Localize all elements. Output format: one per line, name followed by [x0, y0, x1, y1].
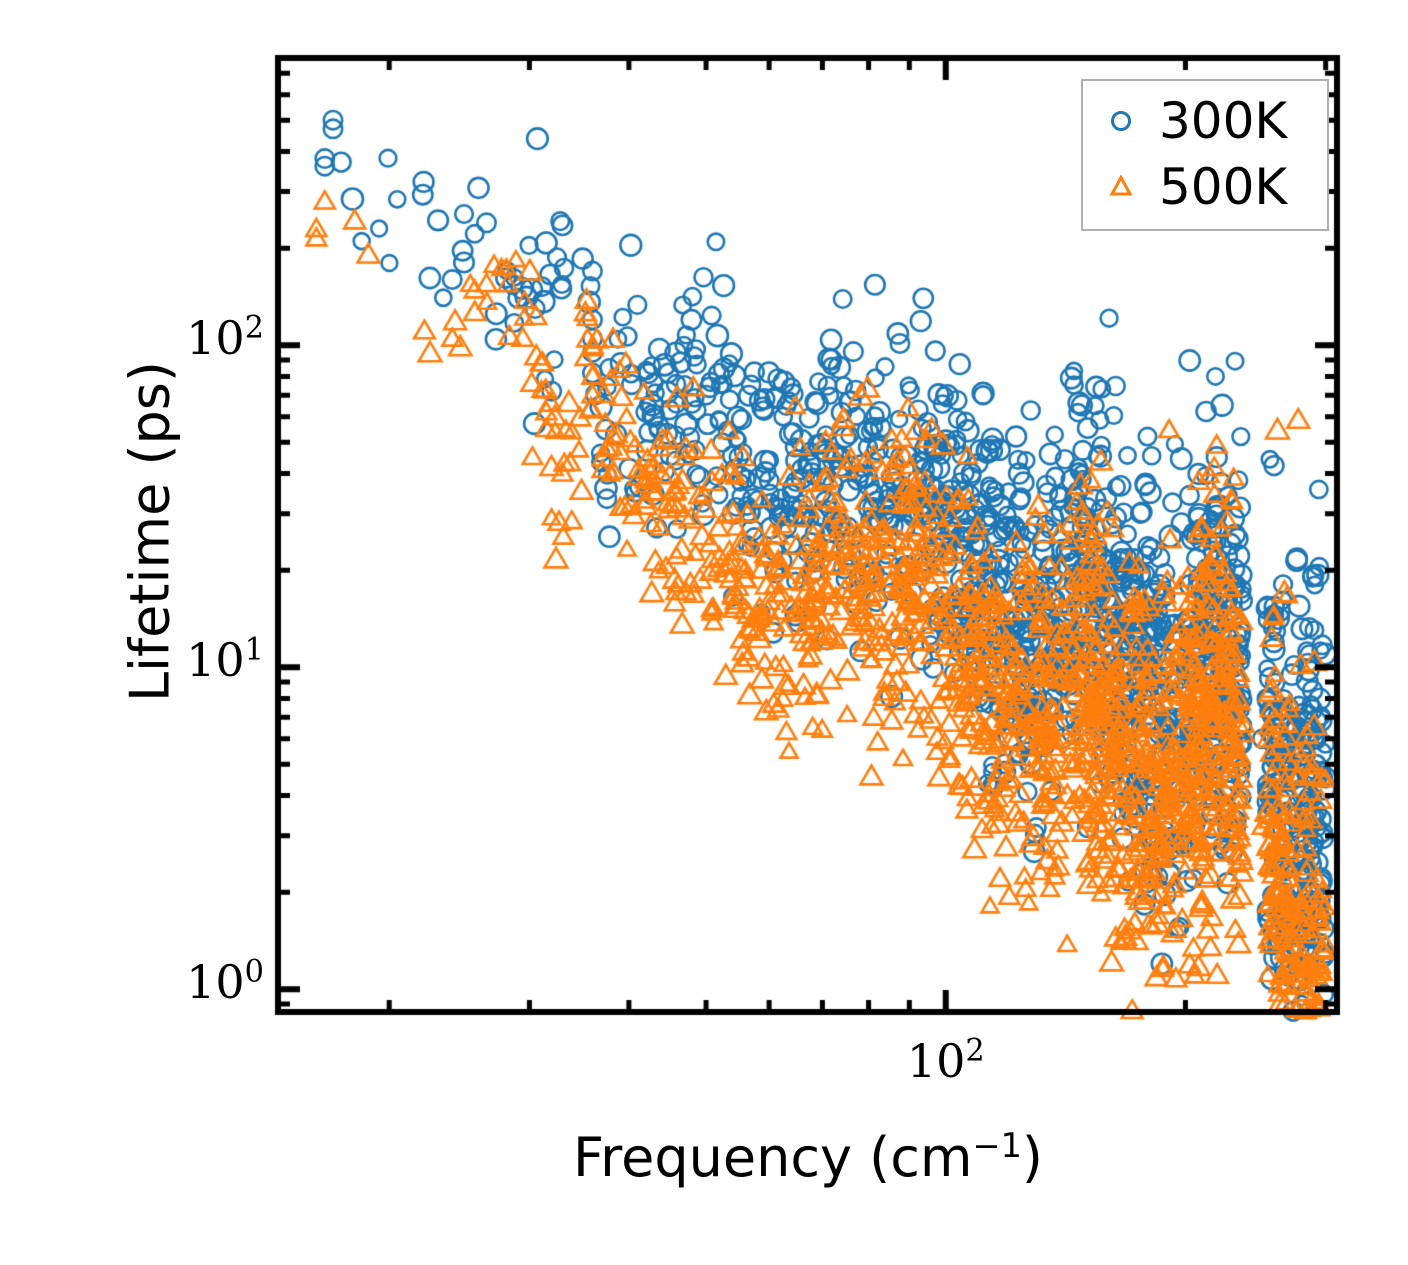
legend-circle-icon	[1083, 104, 1159, 138]
legend-entry-300k[interactable]: 300K	[1083, 89, 1327, 153]
y-axis-title: Lifetime (ps)	[119, 52, 182, 1012]
scatter-plot-figure: 102 101 100 102 Frequency (cm−1) Lifetim…	[0, 0, 1408, 1265]
legend-label-300k: 300K	[1159, 96, 1287, 146]
legend-entry-500k[interactable]: 500K	[1083, 155, 1327, 219]
x-tick-label-100: 102	[826, 1034, 1066, 1088]
legend-triangle-icon	[1083, 170, 1159, 204]
x-axis-title: Frequency (cm−1)	[278, 1126, 1338, 1189]
legend: 300K 500K	[1081, 79, 1329, 231]
legend-label-500k: 500K	[1159, 162, 1287, 212]
